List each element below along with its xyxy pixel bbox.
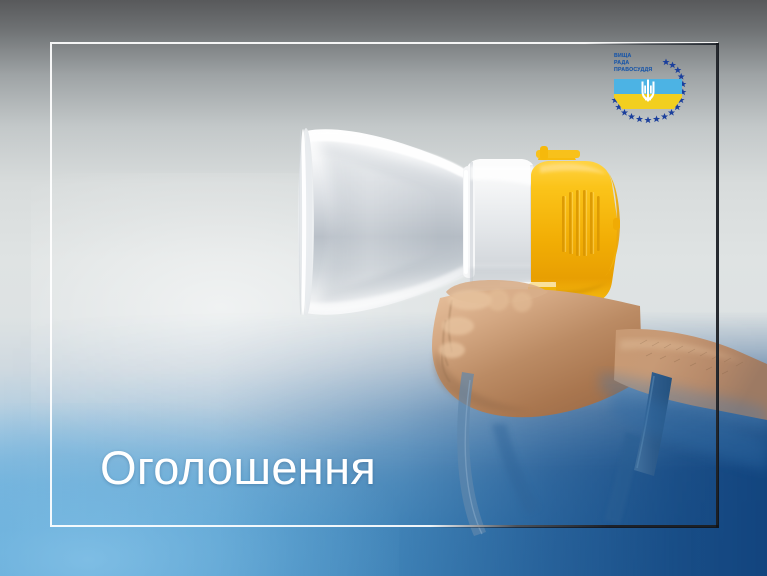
megaphone-body (531, 146, 620, 304)
announcement-banner: ВИЩА РАДА ПРАВОСУДДЯ Оголошення (0, 0, 767, 576)
frame-edge-top-right (585, 43, 719, 45)
tryzub-icon (641, 78, 656, 103)
frame-edge-bottom-right (430, 525, 719, 528)
megaphone-barrel (463, 159, 534, 287)
page-title: Оголошення (100, 441, 376, 495)
vrp-logo: ВИЩА РАДА ПРАВОСУДДЯ (606, 52, 690, 128)
frame-edge-right (716, 43, 719, 528)
megaphone-horn (298, 128, 472, 316)
logo-caption: ВИЩА РАДА ПРАВОСУДДЯ (614, 53, 652, 75)
